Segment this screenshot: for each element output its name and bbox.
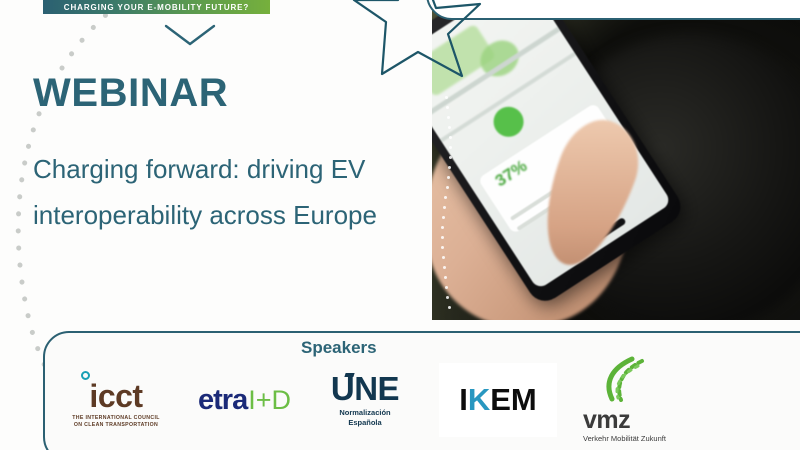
une-wordmark: UNE: [331, 370, 399, 407]
ikem-letter-i: I: [459, 382, 468, 417]
photo-dot-column: [440, 96, 456, 308]
une-tagline-line2: Española: [348, 418, 381, 428]
une-wordmark-group: UNE: [331, 372, 399, 405]
etra-wordmark: etra: [198, 384, 247, 417]
icct-tagline-line1: THE INTERNATIONAL COUNCIL: [72, 415, 160, 422]
etra-suffix: I+D: [248, 385, 291, 416]
page-eyebrow: WEBINAR: [33, 71, 228, 116]
vmz-wordmark: vmz: [583, 408, 666, 432]
vmz-road-icon: [602, 356, 646, 402]
hero-photo: 37%: [432, 0, 800, 320]
ikem-letters-em: EM: [490, 382, 537, 417]
ikem-wordmark-group: IKEM: [459, 382, 537, 418]
une-accent-icon: [344, 373, 354, 377]
page-title: Charging forward: driving EV interoperab…: [33, 146, 433, 238]
logo-ikem: IKEM: [439, 363, 557, 437]
vmz-tagline: Verkehr Mobilität Zukunft: [583, 433, 666, 444]
logo-une: UNE Normalización Española: [317, 372, 413, 428]
banner-text: CHARGING YOUR E-MOBILITY FUTURE?: [64, 3, 249, 14]
vmz-text-group: vmz Verkehr Mobilität Zukunft: [583, 408, 666, 444]
logo-vmz: vmz Verkehr Mobilität Zukunft: [583, 356, 666, 444]
icct-tagline-line2: ON CLEAN TRANSPORTATION: [74, 422, 158, 429]
webinar-poster: 37% CHARGING YOUR E-MOBILITY FUTURE? WEB…: [0, 0, 800, 450]
icct-dot-icon: [81, 371, 90, 380]
logo-icct: icct THE INTERNATIONAL COUNCIL ON CLEAN …: [60, 372, 172, 429]
speaker-logo-row: icct THE INTERNATIONAL COUNCIL ON CLEAN …: [60, 362, 760, 438]
etra-wordmark-group: etra I+D: [198, 384, 291, 417]
star-icon: [352, 0, 484, 78]
ikem-letter-k: K: [468, 382, 490, 417]
speakers-heading: Speakers: [301, 338, 377, 358]
icct-wordmark: icct: [89, 379, 142, 413]
tagline-banner: CHARGING YOUR E-MOBILITY FUTURE?: [43, 0, 270, 14]
chevron-down-icon: [160, 22, 220, 48]
une-tagline-line1: Normalización: [339, 408, 390, 418]
logo-etra: etra I+D: [198, 384, 291, 417]
